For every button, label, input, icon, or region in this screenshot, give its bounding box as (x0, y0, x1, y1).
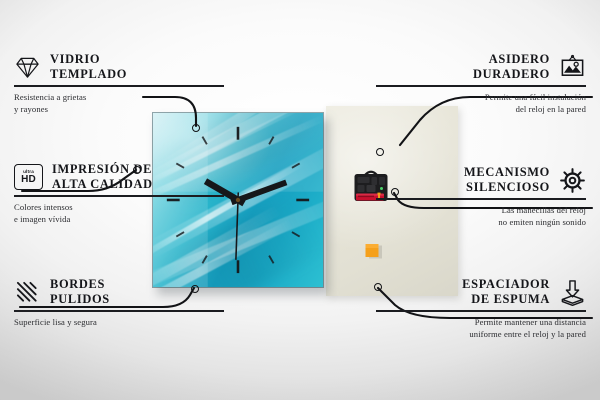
feature-vidrio-templado: VIDRIO TEMPLADO Resistencia a grietas y … (14, 52, 224, 115)
title-line-1: IMPRESIÓN DE (52, 162, 153, 177)
feature-asidero-duradero: ASIDERO DURADERO Permite una fácil insta… (376, 52, 586, 115)
hanging-picture-frame-icon (559, 54, 586, 81)
feature-espaciador-de-espuma: ESPACIADOR DE ESPUMA Permite mantener un… (376, 277, 586, 340)
desc-line-1: Colores intensos (14, 201, 224, 213)
clock-tick (176, 232, 184, 236)
title-line-2: DURADERO (473, 67, 550, 82)
feature-description: Permite una fácil instalación del reloj … (376, 91, 586, 115)
title-line-1: ASIDERO (473, 52, 550, 67)
feature-description: Superficie lisa y segura (14, 316, 224, 328)
ultra-hd-icon: ultra HD (14, 164, 43, 190)
gear-icon (559, 167, 586, 194)
feature-title: VIDRIO TEMPLADO (50, 52, 127, 82)
feature-impresion-alta-calidad: ultra HD IMPRESIÓN DE ALTA CALIDAD Color… (14, 162, 224, 225)
press-down-pad-icon (559, 279, 586, 306)
title-line-2: DE ESPUMA (462, 292, 550, 307)
feature-head: ASIDERO DURADERO (376, 52, 586, 82)
desc-line-1: Resistencia a grietas (14, 91, 224, 103)
desc-line-2: uniforme entre el reloj y la pared (376, 328, 586, 340)
feature-description: Permite mantener una distancia uniforme … (376, 316, 586, 340)
feature-title: IMPRESIÓN DE ALTA CALIDAD (52, 162, 153, 192)
clock-tick (269, 137, 273, 145)
clock-tick (292, 163, 300, 167)
clock-tick (202, 137, 206, 145)
title-line-1: BORDES (50, 277, 110, 292)
desc-line-2: del reloj en la pared (376, 103, 586, 115)
feature-bordes-pulidos: BORDES PULIDOS Superficie lisa y segura (14, 277, 224, 328)
feature-description: Colores intensos e imagen vívida (14, 201, 224, 225)
clock-tick (292, 232, 300, 236)
feature-title: ASIDERO DURADERO (473, 52, 550, 82)
feature-mecanismo-silencioso: MECANISMO SILENCIOSO Las manecillas del … (376, 165, 586, 228)
feature-head: ultra HD IMPRESIÓN DE ALTA CALIDAD (14, 162, 224, 192)
anchor-dot-vidrio-templado (192, 124, 200, 132)
feature-title: BORDES PULIDOS (50, 277, 110, 307)
clock-tick (269, 256, 273, 264)
hd-icon-big-text: HD (21, 175, 36, 185)
title-line-2: SILENCIOSO (464, 180, 550, 195)
feature-title: MECANISMO SILENCIOSO (464, 165, 550, 195)
title-line-1: VIDRIO (50, 52, 127, 67)
anchor-dot-asidero (376, 148, 384, 156)
title-line-2: ALTA CALIDAD (52, 177, 153, 192)
infographic-canvas: VIDRIO TEMPLADO Resistencia a grietas y … (0, 0, 600, 400)
polished-edges-icon (14, 279, 41, 306)
desc-line-1: Las manecillas del reloj (376, 204, 586, 216)
clock-center-pin (236, 198, 240, 202)
desc-line-2: e imagen vívida (14, 213, 224, 225)
feature-divider (376, 85, 586, 87)
feature-head: VIDRIO TEMPLADO (14, 52, 224, 82)
desc-line-2: y rayones (14, 103, 224, 115)
title-line-1: MECANISMO (464, 165, 550, 180)
title-line-2: TEMPLADO (50, 67, 127, 82)
feature-title: ESPACIADOR DE ESPUMA (462, 277, 550, 307)
feature-divider (376, 198, 586, 200)
title-line-1: ESPACIADOR (462, 277, 550, 292)
clock-tick (202, 256, 206, 264)
feature-description: Resistencia a grietas y rayones (14, 91, 224, 115)
foam-spacer (364, 242, 384, 262)
desc-line-1: Superficie lisa y segura (14, 316, 224, 328)
feature-divider (376, 310, 586, 312)
title-line-2: PULIDOS (50, 292, 110, 307)
diamond-icon (14, 54, 41, 81)
feature-divider (14, 85, 224, 87)
feature-divider (14, 195, 224, 197)
feature-head: MECANISMO SILENCIOSO (376, 165, 586, 195)
feature-head: ESPACIADOR DE ESPUMA (376, 277, 586, 307)
feature-head: BORDES PULIDOS (14, 277, 224, 307)
feature-divider (14, 310, 224, 312)
desc-line-2: no emiten ningún sonido (376, 216, 586, 228)
desc-line-1: Permite una fácil instalación (376, 91, 586, 103)
feature-description: Las manecillas del reloj no emiten ningú… (376, 204, 586, 228)
desc-line-1: Permite mantener una distancia (376, 316, 586, 328)
